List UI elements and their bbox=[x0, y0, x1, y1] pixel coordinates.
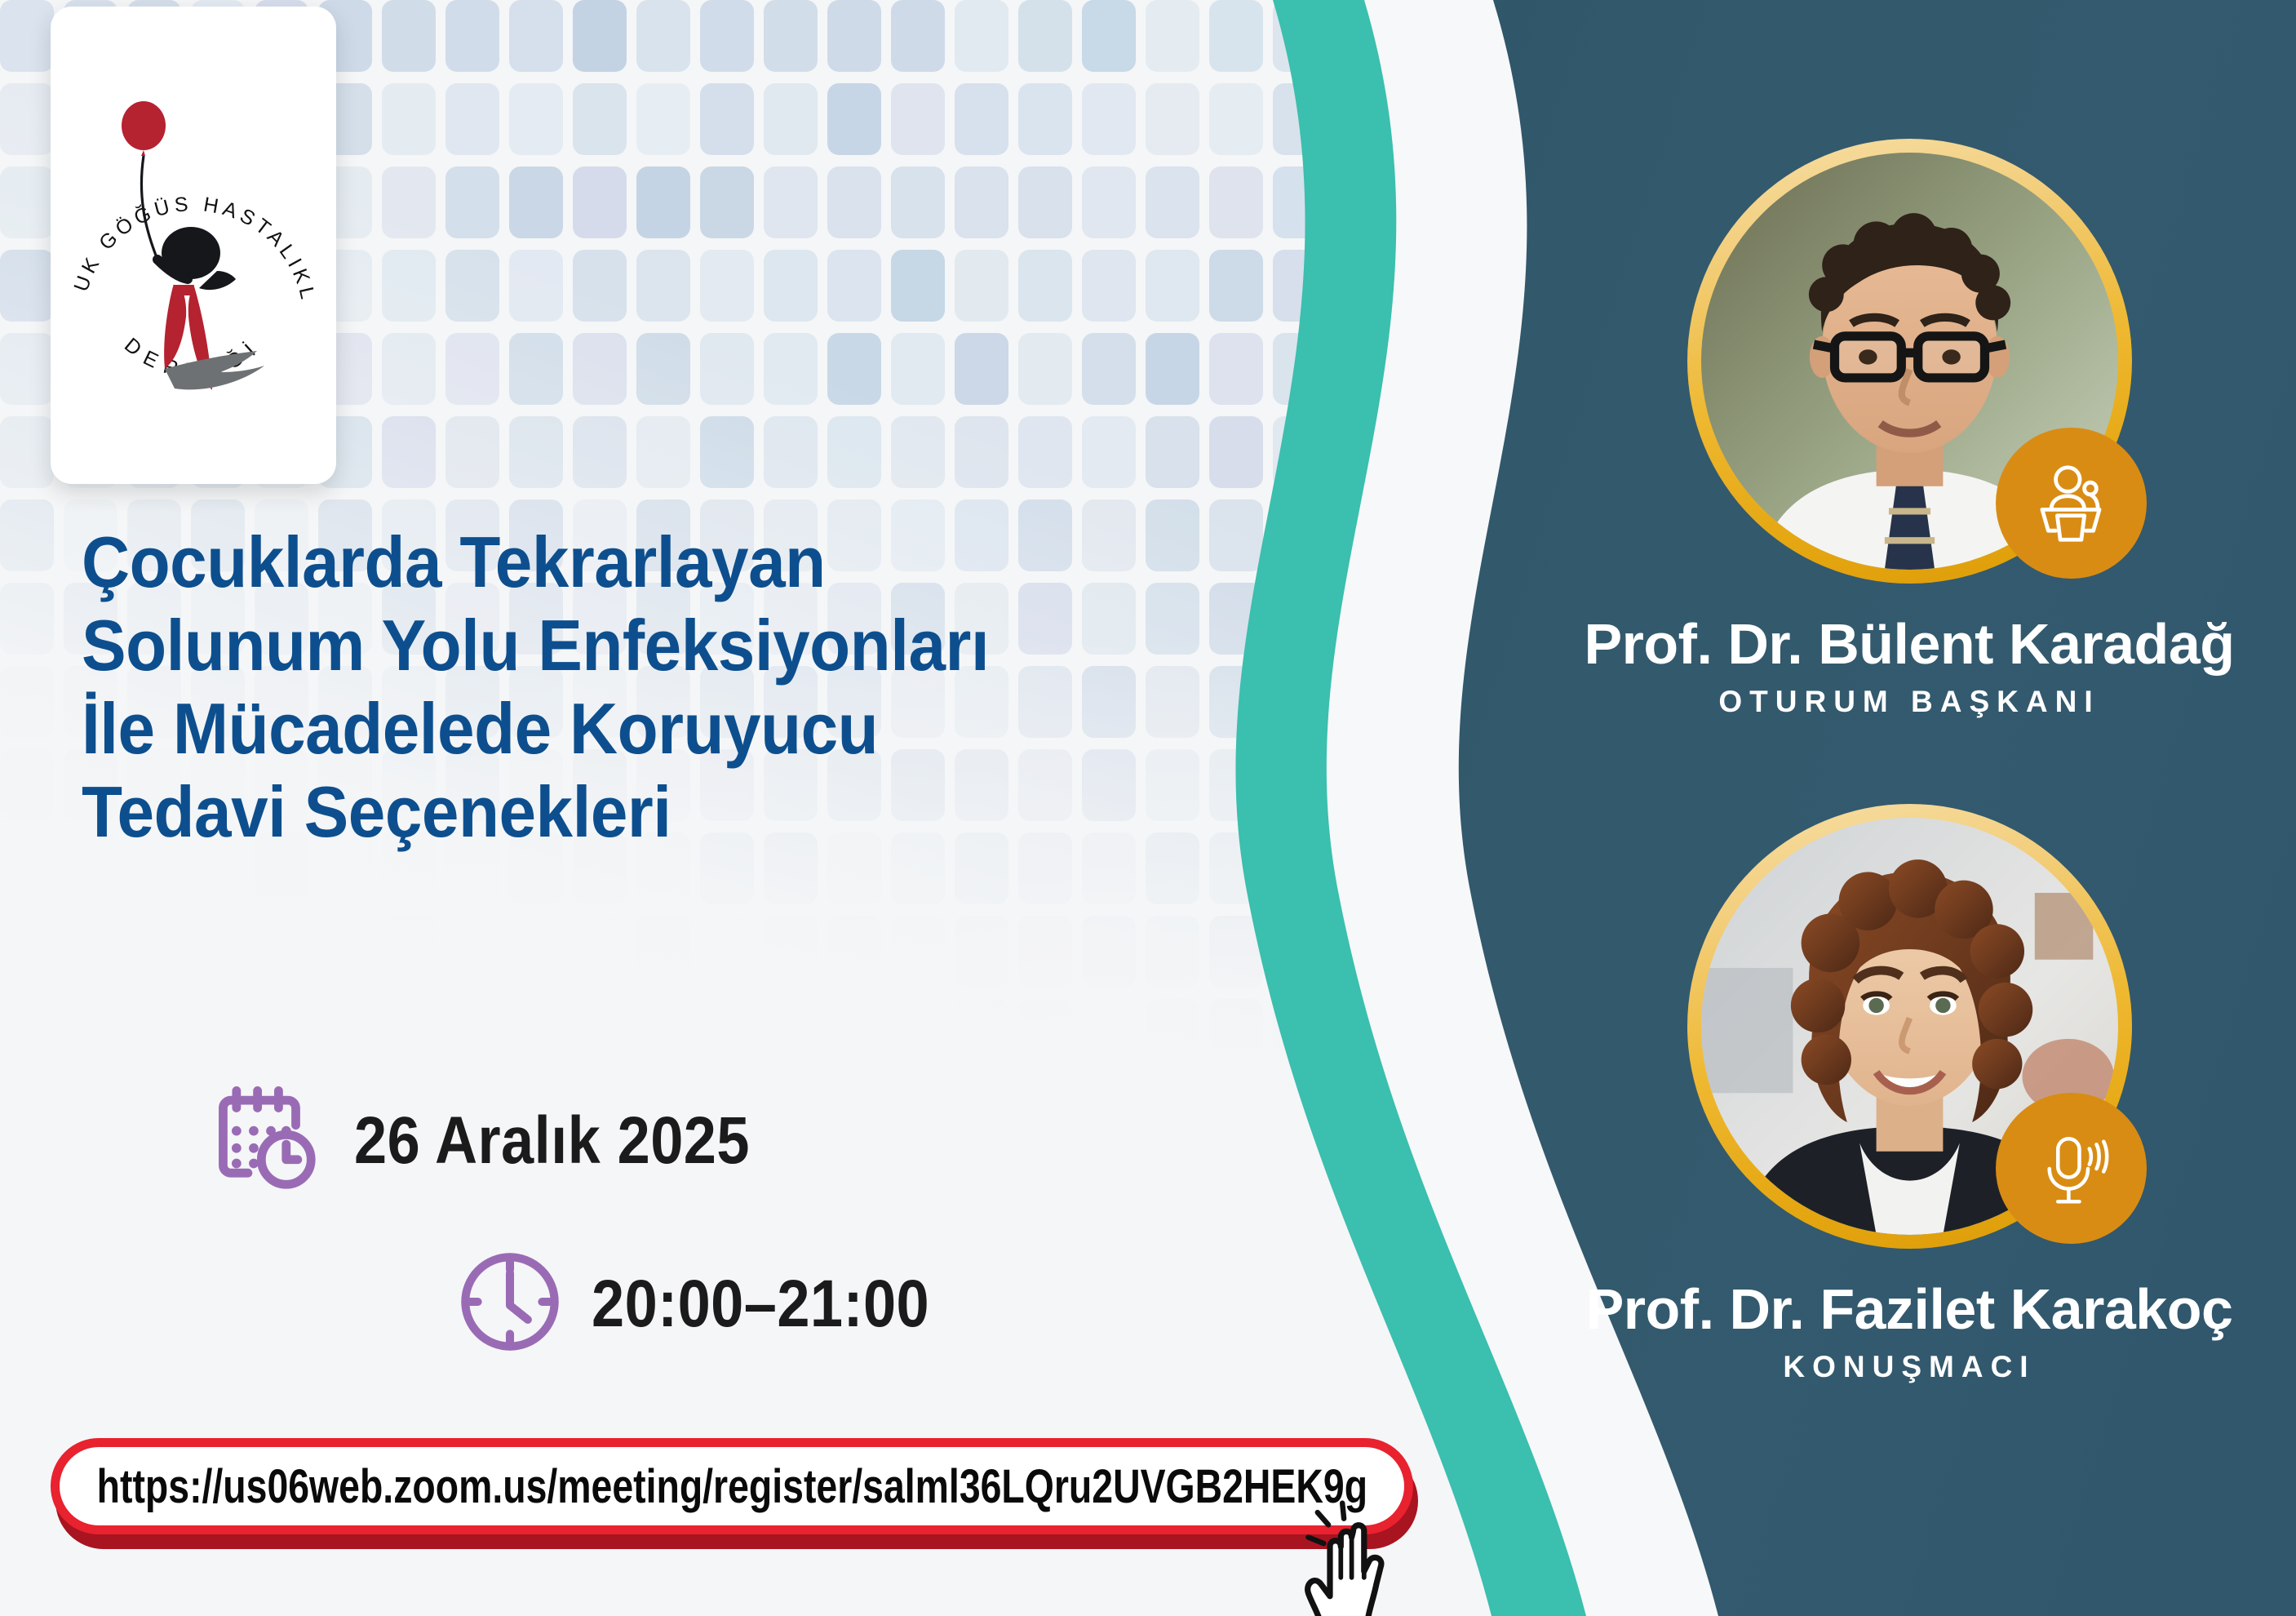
speaker-card-presenter: Prof. Dr. Fazilet Karakoç KONUŞMACI bbox=[1542, 804, 2276, 1384]
logo-lung-left bbox=[164, 286, 186, 369]
speaker-role: KONUŞMACI bbox=[1542, 1350, 2276, 1384]
webinar-poster: ÇOCUK GÖĞÜS HASTALIKLARI DERNEĞİ Çocukla bbox=[0, 0, 2296, 1616]
podium-speaker-icon bbox=[1996, 428, 2147, 579]
registration-url-pill[interactable]: https://us06web.zoom.us/meeting/register… bbox=[51, 1438, 1413, 1534]
event-time-text: 20:00–21:00 bbox=[592, 1266, 929, 1343]
speaker-role: OTURUM BAŞKANI bbox=[1542, 685, 2276, 719]
speaker-name: Prof. Dr. Fazilet Karakoç bbox=[1542, 1276, 2276, 1342]
speaker-card-chair: Prof. Dr. Bülent Karadağ OTURUM BAŞKANI bbox=[1542, 139, 2276, 719]
registration-url-text[interactable]: https://us06web.zoom.us/meeting/register… bbox=[96, 1459, 1367, 1514]
event-datetime-block: 26 Aralık 2025 20:00–21:00 bbox=[204, 1077, 1183, 1363]
speaker-portrait-wrap bbox=[1687, 804, 2132, 1249]
event-date-text: 26 Aralık 2025 bbox=[354, 1103, 750, 1179]
speaker-portrait-wrap bbox=[1687, 139, 2132, 584]
title-line-1: Çocuklarda Tekrarlayan bbox=[82, 521, 1220, 604]
calendar-clock-icon bbox=[204, 1077, 326, 1204]
title-line-4: Tedavi Seçenekleri bbox=[82, 770, 1220, 854]
organization-logo-card: ÇOCUK GÖĞÜS HASTALIKLARI DERNEĞİ bbox=[51, 7, 336, 484]
clock-icon bbox=[453, 1245, 567, 1363]
microphone-icon bbox=[1996, 1093, 2147, 1244]
pointing-hand-cursor-icon bbox=[1299, 1489, 1454, 1616]
dernek-logo-icon: ÇOCUK GÖĞÜS HASTALIKLARI DERNEĞİ bbox=[51, 57, 336, 465]
page-title: Çocuklarda Tekrarlayan Solunum Yolu Enfe… bbox=[82, 521, 1220, 854]
title-line-2: Solunum Yolu Enfeksiyonları bbox=[82, 604, 1220, 687]
logo-balloon-icon bbox=[122, 101, 166, 150]
event-date-row: 26 Aralık 2025 bbox=[204, 1077, 1183, 1204]
event-time-row: 20:00–21:00 bbox=[453, 1245, 1183, 1363]
speaker-name: Prof. Dr. Bülent Karadağ bbox=[1542, 611, 2276, 677]
registration-url-block[interactable]: https://us06web.zoom.us/meeting/register… bbox=[51, 1438, 1438, 1552]
title-line-3: İle Mücadelede Koruyucu bbox=[82, 687, 1220, 770]
